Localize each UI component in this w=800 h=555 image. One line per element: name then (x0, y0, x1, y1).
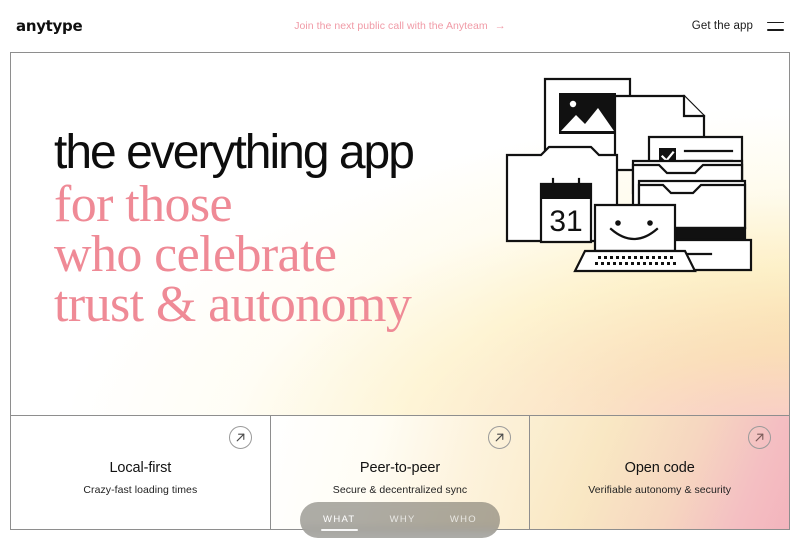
headline-line-2: for those (54, 180, 413, 230)
headline-line-3: who celebrate (54, 230, 413, 280)
tab-why[interactable]: WHY (388, 510, 418, 531)
header-center-slot: Join the next public call with the Anyte… (0, 0, 800, 52)
headline-line-4: trust & autonomy (54, 280, 413, 330)
feature-card-title: Local-first (109, 460, 171, 476)
hamburger-line-1 (767, 22, 784, 24)
headline-line-1: the everything app (54, 126, 413, 180)
arrow-up-right-icon[interactable] (748, 426, 771, 449)
tab-what[interactable]: WHAT (321, 510, 357, 531)
svg-text:31: 31 (549, 205, 582, 238)
hero-headline: the everything app for those who celebra… (54, 126, 413, 330)
feature-card-local-first[interactable]: Local-first Crazy-fast loading times (11, 416, 270, 529)
arrow-right-icon: → (495, 21, 506, 32)
feature-card-subtitle: Secure & decentralized sync (333, 484, 467, 496)
feature-card-title: Open code (625, 460, 695, 476)
hero-section: the everything app for those who celebra… (11, 53, 789, 415)
page-root: anytype Join the next public call with t… (0, 0, 800, 555)
hamburger-menu-icon[interactable] (767, 21, 784, 32)
arrow-up-right-icon[interactable] (488, 426, 511, 449)
get-the-app-button[interactable]: Get the app (692, 20, 753, 32)
feature-card-open-code[interactable]: Open code Verifiable autonomy & security (529, 416, 789, 529)
hamburger-line-2 (767, 29, 784, 31)
arrow-up-right-icon[interactable] (229, 426, 252, 449)
hero-frame: the everything app for those who celebra… (10, 52, 790, 530)
calendar-day-31: 31 (541, 179, 591, 242)
anytype-logo[interactable]: anytype (16, 19, 82, 34)
announcement-text: Join the next public call with the Anyte… (294, 20, 488, 32)
feature-card-title: Peer-to-peer (360, 460, 440, 476)
announcement-link[interactable]: Join the next public call with the Anyte… (294, 20, 506, 32)
feature-card-subtitle: Verifiable autonomy & security (588, 484, 731, 496)
feature-card-subtitle: Crazy-fast loading times (83, 484, 197, 496)
site-header: anytype Join the next public call with t… (0, 0, 800, 52)
section-tab-pill: WHAT WHY WHO (300, 502, 500, 538)
tab-who[interactable]: WHO (448, 510, 479, 531)
anytype-objects-illustration: 31 (499, 65, 767, 281)
header-actions: Get the app (692, 20, 784, 32)
